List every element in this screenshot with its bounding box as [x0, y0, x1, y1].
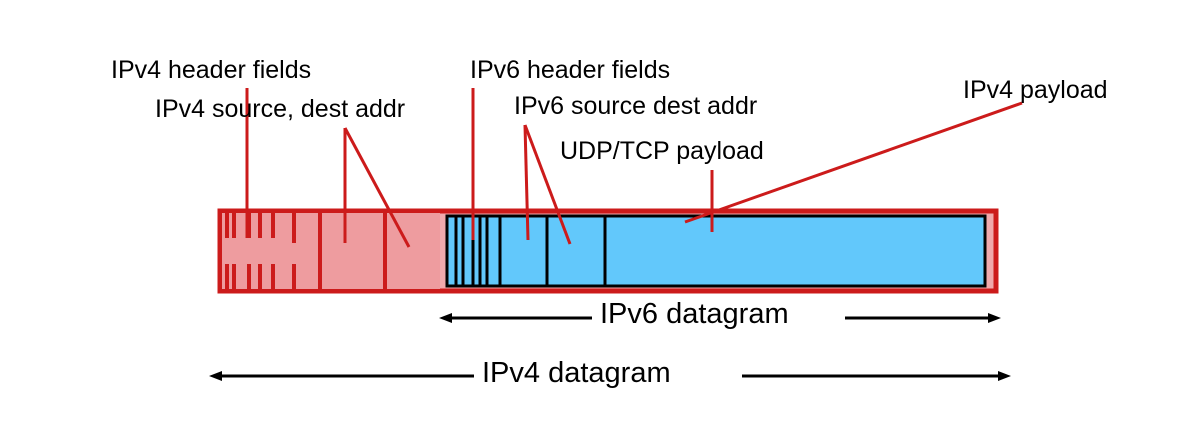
label-ipv6-source-dest-addr: IPv6 source dest addr: [514, 94, 757, 119]
label-ipv4-source-dest-addr: IPv4 source, dest addr: [155, 97, 405, 122]
label-ipv4-payload: IPv4 payload: [963, 78, 1108, 103]
label-ipv6-datagram: IPv6 datagram: [600, 300, 789, 329]
datagram-bar: [220, 211, 996, 291]
label-ipv4-header-fields: IPv4 header fields: [111, 58, 311, 83]
ipv4-header-region: [222, 213, 440, 289]
diagram-canvas: IPv4 header fields IPv4 source, dest add…: [0, 0, 1195, 423]
label-udp-tcp-payload: UDP/TCP payload: [560, 139, 764, 164]
label-ipv4-datagram: IPv4 datagram: [482, 359, 671, 388]
label-ipv6-header-fields: IPv6 header fields: [470, 58, 670, 83]
